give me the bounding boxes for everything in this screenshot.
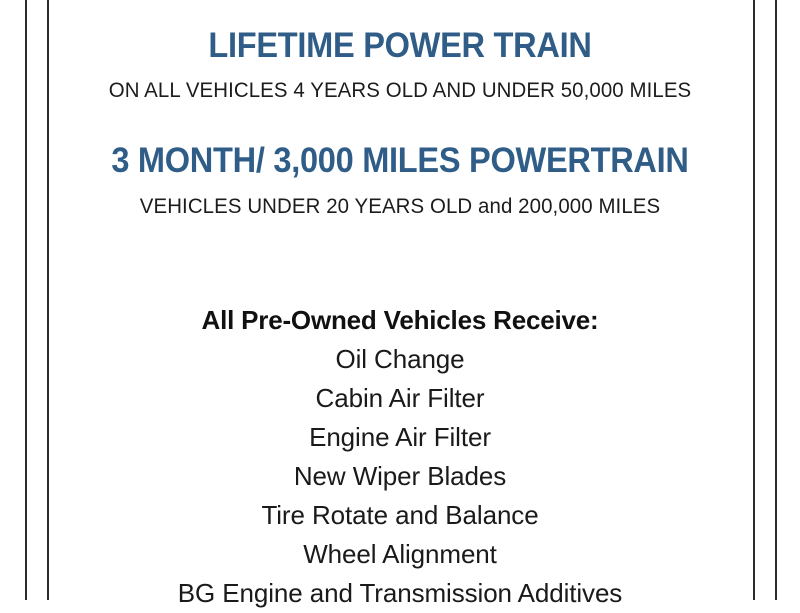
- service-item-bg-additives: BG Engine and Transmission Additives: [0, 574, 800, 613]
- warranty-block-threemonth: 3 MONTH/ 3,000 MILES POWERTRAIN VEHICLES…: [0, 143, 800, 218]
- services-section: All Pre-Owned Vehicles Receive: Oil Chan…: [0, 301, 800, 613]
- service-item-engine-air-filter: Engine Air Filter: [0, 418, 800, 457]
- warranty-block-lifetime: LIFETIME POWER TRAIN ON ALL VEHICLES 4 Y…: [0, 28, 800, 102]
- services-title: All Pre-Owned Vehicles Receive:: [0, 301, 800, 340]
- warranty-subline-threemonth: VEHICLES UNDER 20 YEARS OLD and 200,000 …: [20, 196, 780, 218]
- warranty-subline-lifetime: ON ALL VEHICLES 4 YEARS OLD AND UNDER 50…: [20, 80, 780, 102]
- flyer-content: LIFETIME POWER TRAIN ON ALL VEHICLES 4 Y…: [0, 0, 800, 600]
- warranty-headline-lifetime: LIFETIME POWER TRAIN: [28, 28, 772, 63]
- service-item-tire-rotate-balance: Tire Rotate and Balance: [0, 496, 800, 535]
- service-item-wiper-blades: New Wiper Blades: [0, 457, 800, 496]
- warranty-headline-threemonth: 3 MONTH/ 3,000 MILES POWERTRAIN: [28, 143, 772, 178]
- service-item-cabin-air-filter: Cabin Air Filter: [0, 379, 800, 418]
- service-item-wheel-alignment: Wheel Alignment: [0, 535, 800, 574]
- service-item-oil-change: Oil Change: [0, 340, 800, 379]
